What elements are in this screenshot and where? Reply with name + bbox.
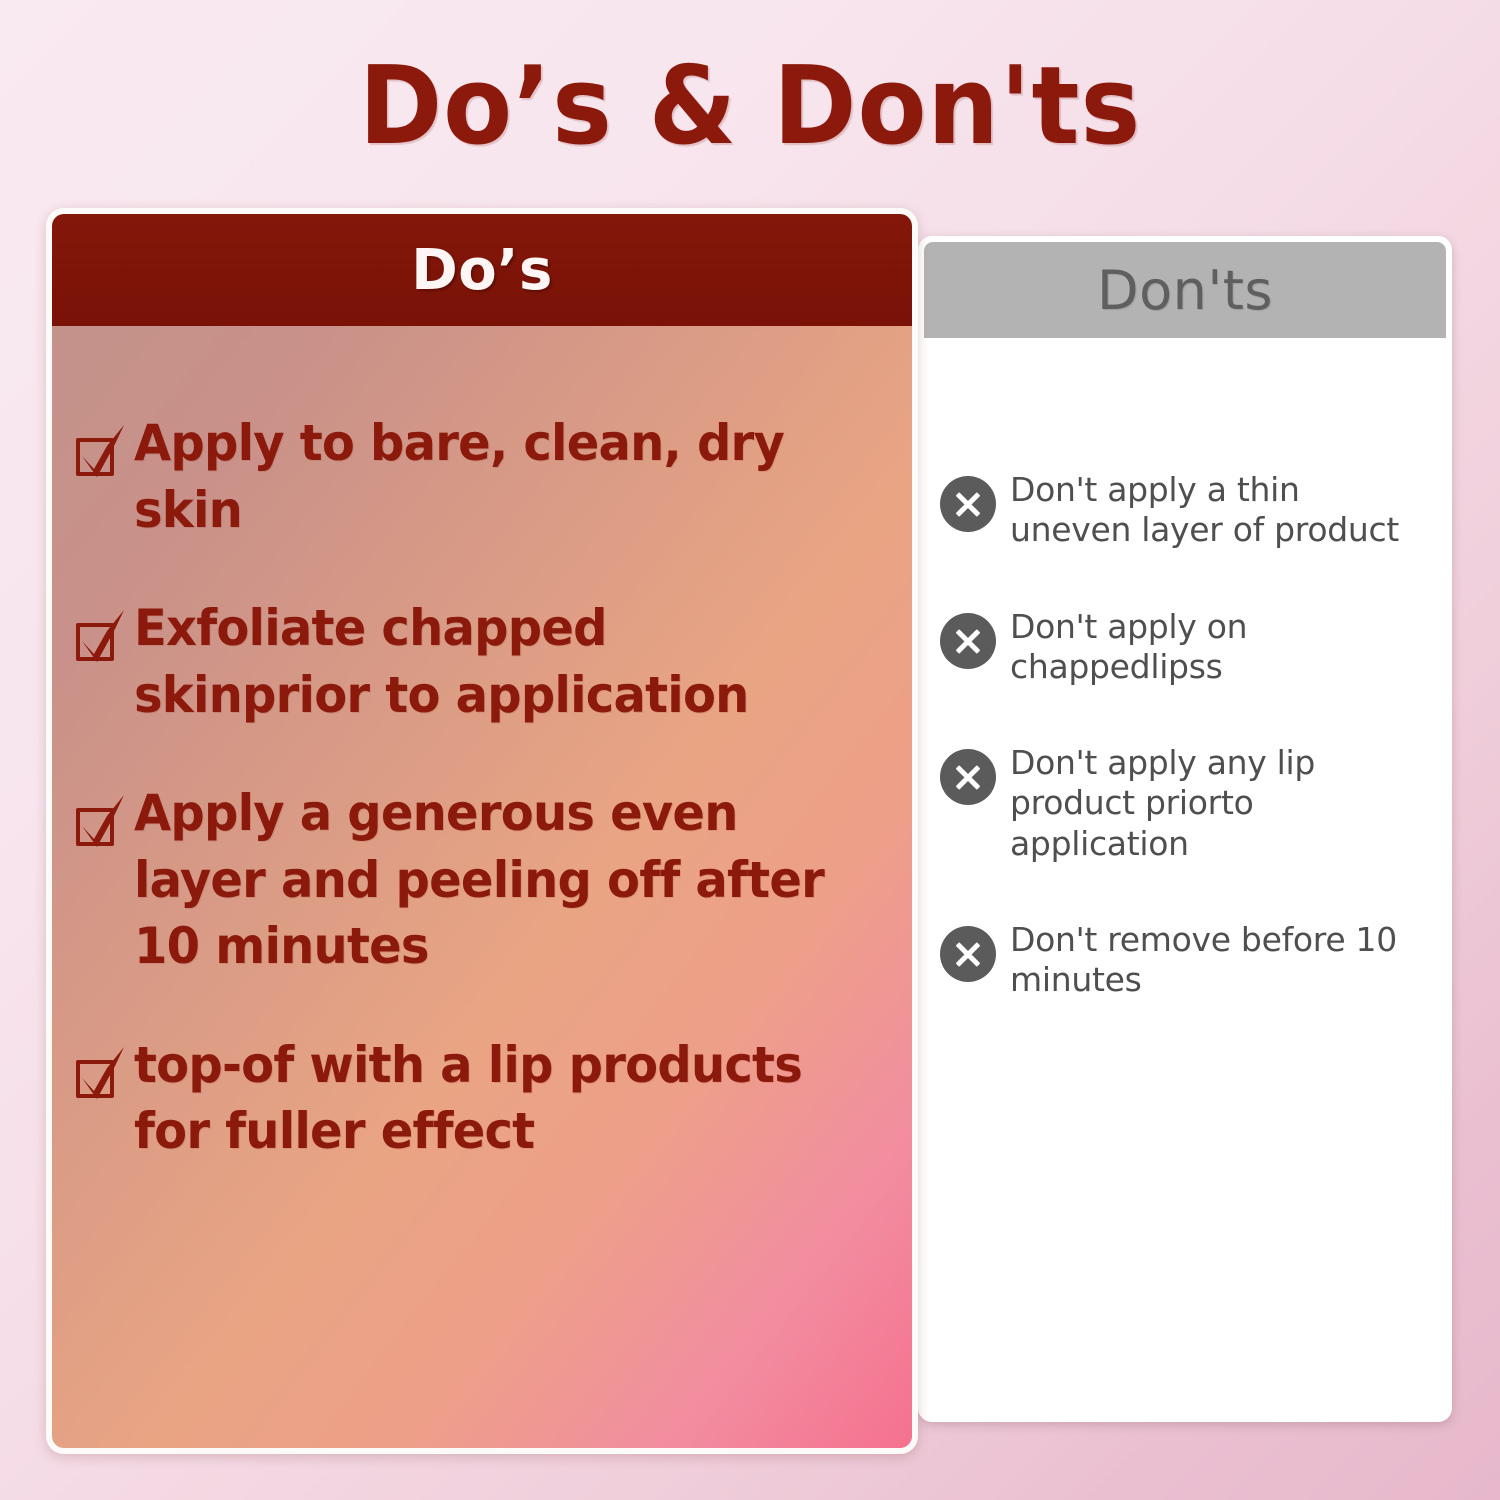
dont-item-label: Don't remove before 10 minutes	[1010, 920, 1424, 1001]
dos-header-label: Do’s	[411, 238, 553, 303]
x-circle-icon	[940, 476, 996, 532]
list-item: Don't remove before 10 minutes	[940, 920, 1424, 1001]
donts-list: Don't apply a thin uneven layer of produ…	[924, 338, 1446, 1000]
dont-item-label: Don't apply a thin uneven layer of produ…	[1010, 470, 1424, 551]
dos-card-header: Do’s	[52, 214, 912, 326]
checkmark-icon	[74, 607, 130, 669]
donts-header-label: Don'ts	[1097, 259, 1273, 322]
dont-item-label: Don't apply any lip product priorto appl…	[1010, 743, 1424, 864]
x-circle-icon	[940, 926, 996, 982]
do-item-label: Exfoliate chapped skinprior to applicati…	[134, 595, 856, 728]
donts-card-header: Don'ts	[924, 242, 1446, 338]
list-item: Apply to bare, clean, dry skin	[74, 410, 886, 543]
page-title: Do’s & Don'ts	[53, 44, 1448, 169]
list-item: Don't apply any lip product priorto appl…	[940, 743, 1424, 864]
dos-card: Do’s Apply to bare, clean, dry skin Exfo…	[46, 208, 918, 1454]
checkmark-icon	[74, 422, 130, 484]
checkmark-icon	[74, 792, 130, 854]
list-item: Don't apply a thin uneven layer of produ…	[940, 470, 1424, 551]
dont-item-label: Don't apply on chappedlipss	[1010, 607, 1424, 688]
checkmark-icon	[74, 1044, 130, 1106]
do-item-label: Apply to bare, clean, dry skin	[134, 410, 856, 543]
x-circle-icon	[940, 613, 996, 669]
do-item-label: Apply a generous even layer and peeling …	[134, 780, 856, 980]
list-item: top-of with a lip products for fuller ef…	[74, 1032, 886, 1165]
x-circle-icon	[940, 749, 996, 805]
list-item: Don't apply on chappedlipss	[940, 607, 1424, 688]
list-item: Exfoliate chapped skinprior to applicati…	[74, 595, 886, 728]
list-item: Apply a generous even layer and peeling …	[74, 780, 886, 980]
dos-list: Apply to bare, clean, dry skin Exfoliate…	[52, 326, 912, 1448]
donts-card: Don'ts Don't apply a thin uneven layer o…	[918, 236, 1452, 1422]
do-item-label: top-of with a lip products for fuller ef…	[134, 1032, 856, 1165]
